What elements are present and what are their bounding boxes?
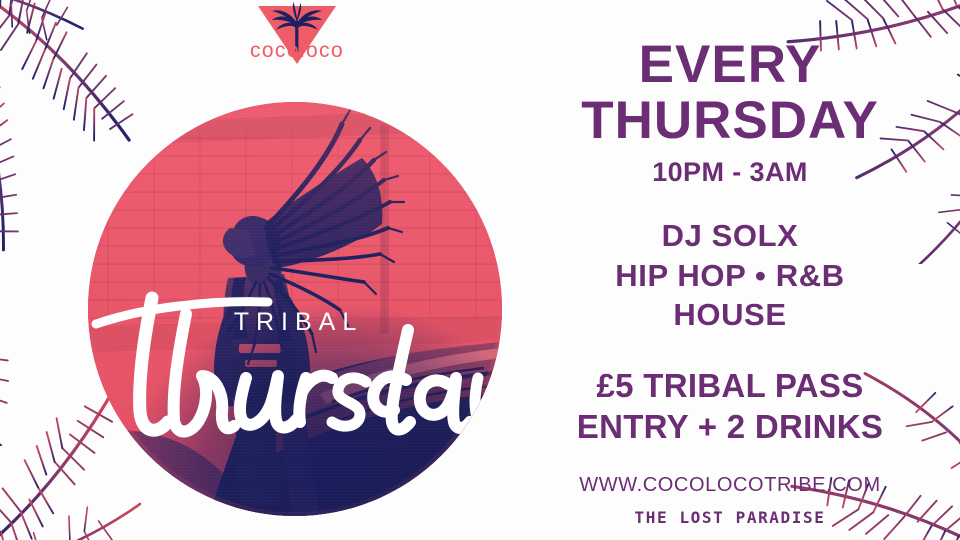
headline-thursday: THURSDAY xyxy=(520,93,940,149)
website-url[interactable]: WWW.COCOLOCOTRIBE.COM xyxy=(520,474,940,497)
headline-every: EVERY xyxy=(520,36,940,93)
event-details-panel: EVERY THURSDAY 10PM - 3AM DJ SOLX HIP HO… xyxy=(520,22,940,522)
circle-title-group: TRIBAL xyxy=(88,102,502,516)
cocoloco-logo[interactable]: cocoloco xyxy=(222,2,372,102)
ticket-inclusions: ENTRY + 2 DRINKS xyxy=(520,406,940,448)
dj-name: DJ SOLX xyxy=(520,216,940,256)
ticket-price: £5 TRIBAL PASS xyxy=(520,365,940,407)
music-genres: HIP HOP • R&B xyxy=(520,256,940,296)
venue-tagline: THE LOST PARADISE xyxy=(520,508,940,527)
logo-wordmark: cocoloco xyxy=(222,40,372,61)
event-flyer: cocoloco xyxy=(0,0,960,540)
music-genre-house: HOUSE xyxy=(520,295,940,335)
event-time: 10PM - 3AM xyxy=(520,157,940,188)
thursdays-script-title xyxy=(88,280,502,480)
hero-photo-circle: TRIBAL xyxy=(88,102,502,516)
